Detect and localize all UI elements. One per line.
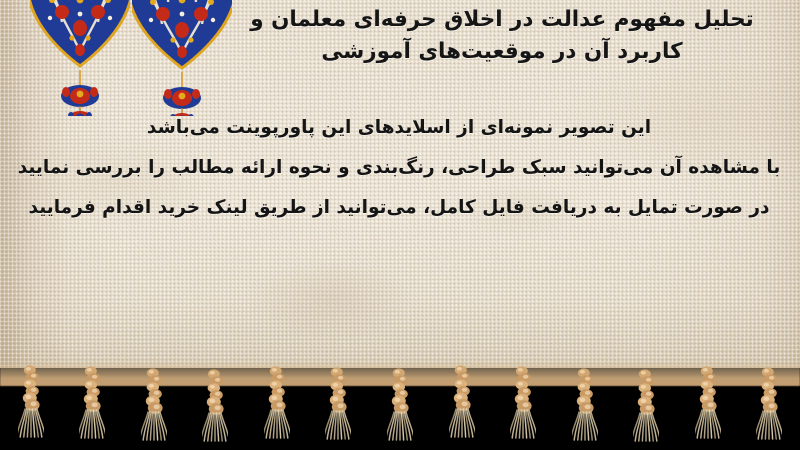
fringe-tassel [202,368,228,444]
fringe-tassel [325,366,351,442]
slide-title: تحلیل مفهوم عدالت در اخلاق حرفه‌ای معلما… [222,4,782,68]
fringe-tassel [449,364,475,440]
presentation-slide: تحلیل مفهوم عدالت در اخلاق حرفه‌ای معلما… [0,0,800,450]
fringe-tassel [695,365,721,441]
body-line-3: در صورت تمایل به دریافت فایل کامل، می‌تو… [16,188,782,228]
fringe-tassel [79,365,105,441]
fringe-tassel [18,364,44,440]
slide-text-area: تحلیل مفهوم عدالت در اخلاق حرفه‌ای معلما… [0,0,800,300]
fringe-tassel [264,365,290,441]
carpet-fringe [0,360,800,450]
body-line-2: با مشاهده آن می‌توانید سبک طراحی، رنگ‌بن… [16,148,782,188]
fringe-tassel [141,367,167,443]
slide-body: این تصویر نمونه‌ای از اسلایدهای این پاور… [16,108,782,228]
body-line-1: این تصویر نمونه‌ای از اسلایدهای این پاور… [16,108,782,148]
fringe-tassel [756,366,782,442]
fringe-tassel [510,365,536,441]
fringe-tassel [572,367,598,443]
fringe-tassel [387,367,413,443]
fringe-tassel [633,368,659,444]
